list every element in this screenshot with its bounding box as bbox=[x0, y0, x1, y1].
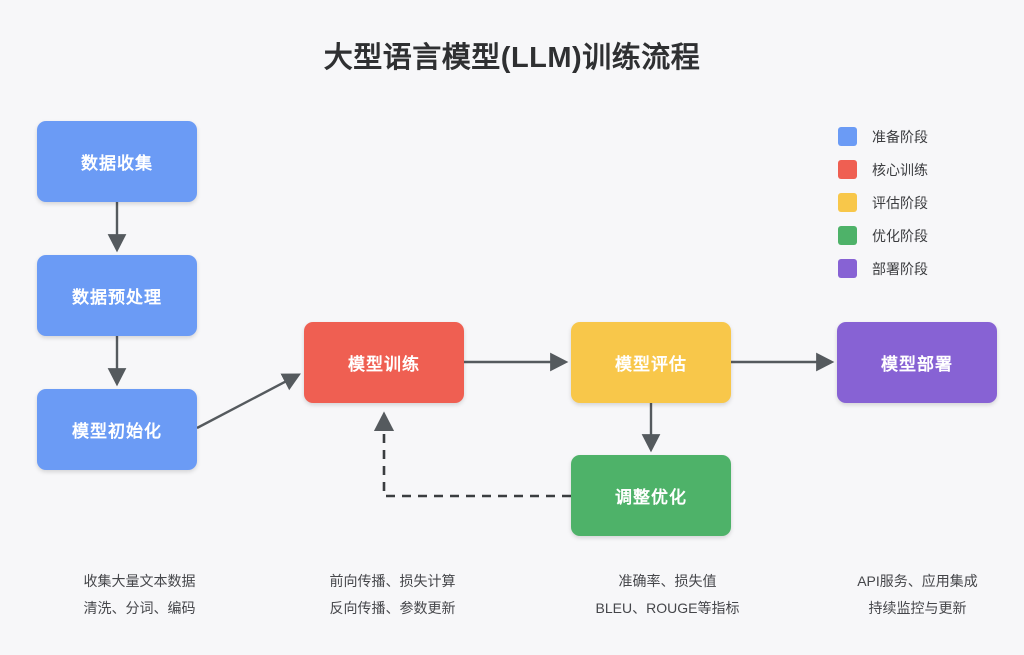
legend-swatch-icon bbox=[838, 226, 857, 245]
caption-line: 收集大量文本数据 bbox=[37, 568, 242, 595]
legend-item-core-training[interactable]: 核心训练 bbox=[838, 153, 928, 186]
legend-swatch-icon bbox=[838, 259, 857, 278]
node-model-initialization[interactable]: 模型初始化 bbox=[37, 389, 197, 470]
node-label: 模型评估 bbox=[615, 350, 687, 375]
caption-line: BLEU、ROUGE等指标 bbox=[565, 595, 770, 622]
caption-line: API服务、应用集成 bbox=[815, 568, 1020, 595]
node-model-training[interactable]: 模型训练 bbox=[304, 322, 464, 403]
caption-deployment-stage: API服务、应用集成 持续监控与更新 bbox=[815, 568, 1020, 622]
node-data-preprocess[interactable]: 数据预处理 bbox=[37, 255, 197, 336]
node-label: 模型初始化 bbox=[72, 417, 162, 442]
node-label: 模型训练 bbox=[348, 350, 420, 375]
node-data-collect[interactable]: 数据收集 bbox=[37, 121, 197, 202]
node-label: 模型部署 bbox=[881, 350, 953, 375]
flowchart-canvas: 大型语言模型(LLM)训练流程 bbox=[0, 0, 1024, 655]
node-label: 数据收集 bbox=[81, 149, 153, 174]
node-model-deployment[interactable]: 模型部署 bbox=[837, 322, 997, 403]
node-label: 调整优化 bbox=[615, 483, 687, 508]
legend: 准备阶段 核心训练 评估阶段 优化阶段 部署阶段 bbox=[838, 120, 928, 285]
legend-item-prepare[interactable]: 准备阶段 bbox=[838, 120, 928, 153]
legend-swatch-icon bbox=[838, 193, 857, 212]
legend-item-deployment[interactable]: 部署阶段 bbox=[838, 252, 928, 285]
legend-swatch-icon bbox=[838, 127, 857, 146]
node-model-evaluation[interactable]: 模型评估 bbox=[571, 322, 731, 403]
legend-label: 准备阶段 bbox=[872, 127, 928, 147]
caption-data-stage: 收集大量文本数据 清洗、分词、编码 bbox=[37, 568, 242, 622]
caption-training-stage: 前向传播、损失计算 反向传播、参数更新 bbox=[290, 568, 495, 622]
caption-line: 清洗、分词、编码 bbox=[37, 595, 242, 622]
legend-label: 核心训练 bbox=[872, 160, 928, 180]
caption-line: 准确率、损失值 bbox=[565, 568, 770, 595]
caption-evaluation-stage: 准确率、损失值 BLEU、ROUGE等指标 bbox=[565, 568, 770, 622]
legend-swatch-icon bbox=[838, 160, 857, 179]
legend-label: 优化阶段 bbox=[872, 226, 928, 246]
page-title: 大型语言模型(LLM)训练流程 bbox=[0, 34, 1024, 76]
caption-line: 前向传播、损失计算 bbox=[290, 568, 495, 595]
legend-label: 部署阶段 bbox=[872, 259, 928, 279]
legend-label: 评估阶段 bbox=[872, 193, 928, 213]
edge-model-init-to-model-train bbox=[197, 375, 298, 428]
node-label: 数据预处理 bbox=[72, 283, 162, 308]
caption-line: 反向传播、参数更新 bbox=[290, 595, 495, 622]
caption-line: 持续监控与更新 bbox=[815, 595, 1020, 622]
legend-item-evaluation[interactable]: 评估阶段 bbox=[838, 186, 928, 219]
node-tune-optimization[interactable]: 调整优化 bbox=[571, 455, 731, 536]
legend-item-optimization[interactable]: 优化阶段 bbox=[838, 219, 928, 252]
edge-tune-opt-to-model-train-feedback bbox=[384, 415, 571, 496]
